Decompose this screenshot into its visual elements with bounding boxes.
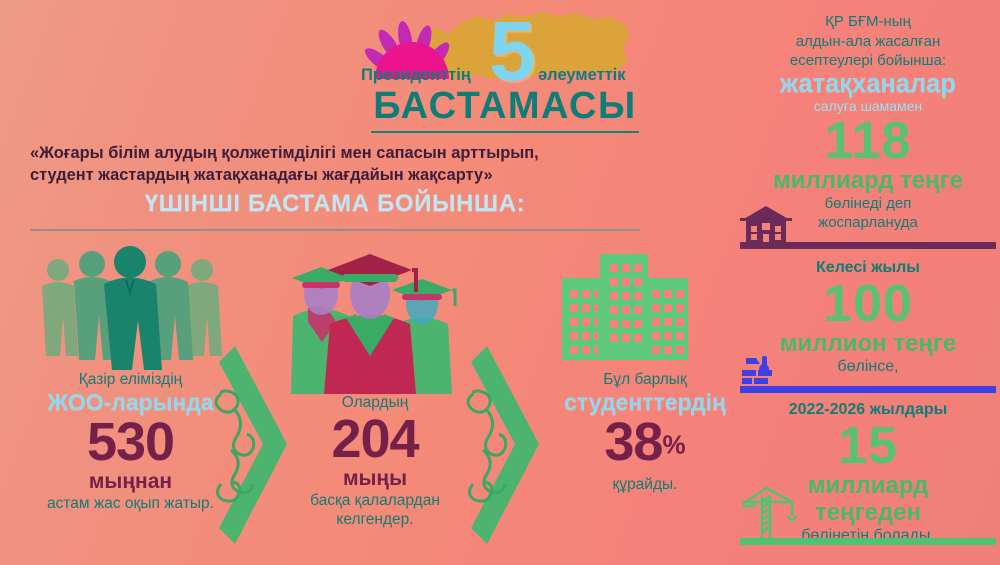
bricklaying-icon — [740, 354, 790, 390]
headline-line-2: студент жастардың жатақханадағы жағдайын… — [30, 164, 630, 186]
program-logo: Президенттің 5 әлеуметтік БАСТАМАСЫ — [355, 4, 655, 134]
logo-presidential-label: Президенттің — [361, 66, 471, 85]
budget-line-1: ҚР БҒМ-ның — [740, 12, 996, 32]
chevron-right-ornament-icon — [465, 338, 549, 553]
budget-block-118-billion: ҚР БҒМ-ның алдын-ала жасалған есептеулер… — [740, 12, 996, 233]
stat-caption-bottom: астам жас оқып жатыр. — [18, 494, 243, 513]
logo-number-five: 5 — [489, 9, 536, 93]
stat-percent-sign: % — [662, 430, 685, 460]
stat-number: 38 — [604, 412, 662, 472]
stat-caption-bottom: басқа қалалардан — [275, 491, 475, 510]
graduates-icon — [268, 246, 473, 396]
stat-number-unit: мыңы — [275, 466, 475, 491]
headline-line-1: «Жоғары білім алудың қолжетімділігі мен … — [30, 142, 630, 164]
budget-amount: 100 — [740, 278, 996, 330]
section-divider — [30, 229, 640, 231]
subheadline: ҮШІНШІ БАСТАМА БОЙЫНША: — [30, 190, 640, 218]
logo-underline — [371, 131, 639, 133]
stat-block-percentage: Бұл барлық студенттердің 38% құрайды. — [545, 370, 745, 494]
budget-unit: миллион теңге — [740, 330, 996, 357]
stat-block-universities: Қазір еліміздің ЖОО-ларында 530 мыңнан а… — [18, 370, 243, 513]
stat-caption-bottom: құрайды. — [545, 475, 745, 494]
stat-number: 530 — [18, 415, 243, 469]
stat-number-unit: мыңнан — [18, 469, 243, 494]
divider-bar-blue — [740, 386, 996, 393]
dormitory-building-icon — [560, 252, 690, 372]
stat-caption-bottom-2: келгендер. — [275, 510, 475, 529]
school-building-icon — [738, 204, 794, 244]
construction-crane-icon — [740, 484, 818, 546]
divider-bar-green — [740, 538, 996, 545]
stat-caption-top: Қазір еліміздің — [18, 370, 243, 389]
budget-highlight: жатақханалар — [740, 71, 996, 98]
budget-unit: миллиард теңге — [740, 167, 996, 194]
budget-amount: 15 — [740, 420, 996, 472]
stat-caption-top: Бұл барлық — [545, 370, 745, 389]
stat-block-from-other-cities: Олардың 204 мыңы басқа қалалардан келген… — [275, 393, 475, 529]
stat-number: 204 — [275, 412, 475, 466]
logo-initiatives-label: БАСТАМАСЫ — [355, 86, 655, 126]
budget-amount: 118 — [740, 115, 996, 167]
people-group-icon — [30, 246, 230, 371]
headline-quote: «Жоғары білім алудың қолжетімділігі мен … — [30, 142, 630, 186]
logo-social-label: әлеуметтік — [538, 66, 626, 85]
budget-line-2: алдын-ала жасалған — [740, 32, 996, 52]
budget-line-3: есептеулері бойынша: — [740, 51, 996, 71]
divider-bar-purple — [740, 242, 996, 249]
stat-number-row: 38% — [545, 415, 745, 469]
